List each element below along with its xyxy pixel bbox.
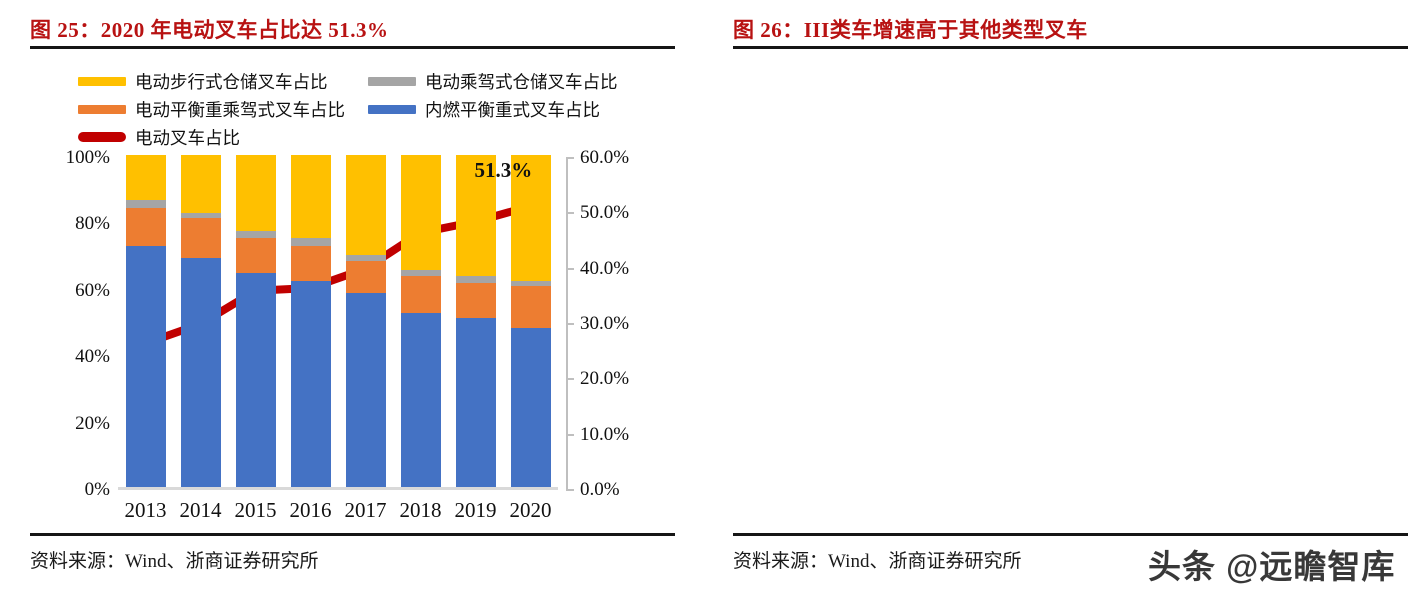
figure-25-title: 图 25：2020 年电动叉车占比达 51.3% [30,14,389,44]
watermark: 头条 @远瞻智库 [1148,540,1395,588]
legend-row: 电动步行式仓储叉车占比 电动乘驾式仓储叉车占比 [78,68,618,94]
bar-segment[interactable] [126,155,166,200]
bar-segment[interactable] [126,200,166,208]
bar-group[interactable] [126,155,166,487]
bar-group[interactable] [511,155,551,487]
y2-tick-mark [566,157,574,159]
figure-25-chart: 0%20%40%60%80%100% 51.3% 0.0%10.0%20.0%3… [30,150,675,495]
bar-segment[interactable] [401,270,441,277]
y2-tick-mark [566,434,574,436]
legend-item-yellow[interactable]: 电动步行式仓储叉车占比 [78,69,368,94]
bar-segment[interactable] [236,231,276,238]
legend-item-red-line[interactable]: 电动叉车占比 [78,125,368,150]
bar-segment[interactable] [346,293,386,487]
bar-group[interactable] [401,155,441,487]
y-tick-label: 80% [75,213,110,235]
legend-swatch-bar-yellow [78,77,126,86]
bar-group[interactable] [291,155,331,487]
y2-tick-mark [566,378,574,380]
bar-segment[interactable] [456,283,496,318]
x-tick-label: 2020 [501,498,561,523]
legend-row: 电动叉车占比 [78,124,618,150]
figure-25-source: 资料来源：Wind、浙商证券研究所 [30,546,318,573]
legend-swatch-line-red [78,132,126,142]
x-tick-label: 2016 [281,498,341,523]
bar-segment[interactable] [236,155,276,231]
bar-segment[interactable] [126,246,166,487]
bar-group[interactable] [236,155,276,487]
y2-tick-label: 0.0% [580,479,620,501]
legend-swatch-bar-gray [368,77,416,86]
legend-label: 电动叉车占比 [135,125,240,150]
bar-segment[interactable] [181,218,221,258]
bar-segment[interactable] [181,213,221,218]
y2-tick-mark [566,489,574,491]
figure-25-plot-area: 51.3% [118,158,558,490]
bar-segment[interactable] [401,155,441,270]
x-tick-label: 2014 [171,498,231,523]
x-tick-label: 2019 [446,498,506,523]
bar-segment[interactable] [236,273,276,487]
bar-segment[interactable] [291,155,331,238]
bar-segment[interactable] [181,258,221,487]
figure-26-top-divider [733,46,1408,49]
figure-25-x-axis-line [118,487,558,490]
bar-segment[interactable] [181,155,221,213]
legend-label: 内燃平衡重式叉车占比 [425,97,600,122]
bar-segment[interactable] [291,246,331,281]
x-tick-label: 2015 [226,498,286,523]
figure-25-legend: 电动步行式仓储叉车占比 电动乘驾式仓储叉车占比 电动平衡重乘驾式叉车占比 内燃平… [78,68,618,152]
legend-swatch-bar-blue [368,105,416,114]
figure-26-panel: 图 26：III类车增速高于其他类型叉车 内燃平衡重式叉车增速 电动平衡重乘驾式… [715,0,1425,596]
y-tick-label: 60% [75,280,110,302]
figure-25-y-axis-right: 0.0%10.0%20.0%30.0%40.0%50.0%60.0% [566,158,671,490]
bar-group[interactable] [181,155,221,487]
bar-segment[interactable] [401,276,441,313]
y2-tick-label: 30.0% [580,313,629,335]
bar-group[interactable] [456,155,496,487]
y-tick-label: 20% [75,413,110,435]
y2-tick-label: 50.0% [580,202,629,224]
bar-segment[interactable] [401,313,441,487]
legend-item-orange[interactable]: 电动平衡重乘驾式叉车占比 [78,97,368,122]
bar-segment[interactable] [346,255,386,262]
bar-segment[interactable] [291,238,331,246]
bar-segment[interactable] [346,261,386,293]
bar-segment[interactable] [236,238,276,273]
legend-item-blue[interactable]: 内燃平衡重式叉车占比 [368,97,600,122]
legend-label: 电动乘驾式仓储叉车占比 [425,69,618,94]
figure-26-bottom-divider [733,533,1408,536]
legend-label: 电动平衡重乘驾式叉车占比 [135,97,345,122]
x-tick-label: 2018 [391,498,451,523]
y2-tick-label: 20.0% [580,368,629,390]
y2-tick-label: 60.0% [580,147,629,169]
bar-segment[interactable] [291,281,331,487]
figure-26-title: 图 26：III类车增速高于其他类型叉车 [733,14,1088,44]
bar-segment[interactable] [511,328,551,487]
page-root: 图 25：2020 年电动叉车占比达 51.3% 电动步行式仓储叉车占比 电动乘… [0,0,1425,596]
bar-segment[interactable] [456,318,496,487]
y-tick-label: 100% [66,147,110,169]
legend-row: 电动平衡重乘驾式叉车占比 内燃平衡重式叉车占比 [78,96,618,122]
bar-group[interactable] [346,155,386,487]
x-tick-label: 2017 [336,498,396,523]
bar-segment[interactable] [346,155,386,255]
figure-25-top-divider [30,46,675,49]
bar-segment[interactable] [126,208,166,246]
legend-swatch-bar-orange [78,105,126,114]
bar-segment[interactable] [511,286,551,328]
figure-26-source: 资料来源：Wind、浙商证券研究所 [733,546,1021,573]
figure-25-y-axis-left: 0%20%40%60%80%100% [30,158,110,490]
y2-tick-label: 10.0% [580,424,629,446]
figure-25-data-label: 51.3% [475,158,533,183]
x-tick-label: 2013 [116,498,176,523]
figure-25-x-axis-labels: 20132014201520162017201820192020 [118,498,558,528]
y2-tick-mark [566,212,574,214]
y-tick-label: 40% [75,346,110,368]
legend-label: 电动步行式仓储叉车占比 [135,69,328,94]
legend-item-gray[interactable]: 电动乘驾式仓储叉车占比 [368,69,618,94]
y2-tick-mark [566,268,574,270]
bar-segment[interactable] [511,281,551,286]
figure-25-panel: 图 25：2020 年电动叉车占比达 51.3% 电动步行式仓储叉车占比 电动乘… [0,0,700,596]
figure-25-bottom-divider [30,533,675,536]
y2-tick-mark [566,323,574,325]
bar-segment[interactable] [456,276,496,283]
y-tick-label: 0% [85,479,110,501]
y2-tick-label: 40.0% [580,258,629,280]
